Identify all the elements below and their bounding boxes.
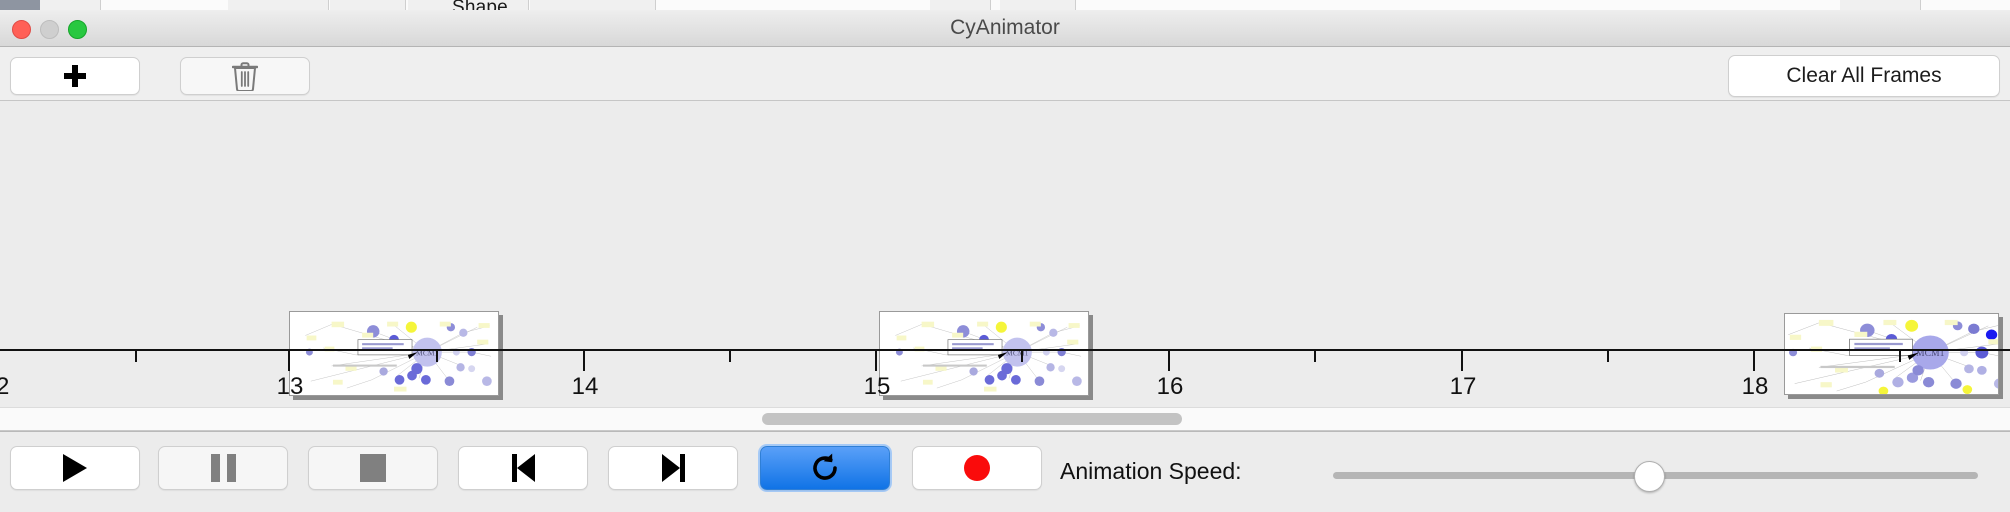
axis-tick-label: 13 [277,373,304,401]
skip-forward-icon [662,454,685,482]
window-titlebar: CyAnimator [0,10,2010,47]
plus-icon [64,65,86,87]
axis-tick-minor [135,351,137,362]
timeline-panel[interactable]: MCM1 [0,101,2010,431]
pause-icon [211,454,236,482]
frame-network-image: MCM1 [879,311,1089,396]
delete-frame-button[interactable] [180,57,310,95]
loop-button[interactable] [760,446,890,490]
skip-start-button[interactable] [458,446,588,490]
axis-tick-label: 16 [1157,373,1184,401]
skip-end-button[interactable] [608,446,738,490]
axis-tick-label: 17 [1450,373,1477,401]
network-graph: MCM1 [880,312,1088,395]
clear-all-frames-button[interactable]: Clear All Frames [1728,55,2000,97]
stop-icon [360,454,386,482]
axis-tick-major [1753,351,1755,371]
cyanimator-window: CyAnimator Clear All Frames [0,10,2010,510]
animation-speed-slider-thumb[interactable] [1634,461,1665,492]
playback-controls-bar: Animation Speed: [0,431,2010,512]
add-frame-button[interactable] [10,57,140,95]
record-icon [964,455,990,481]
axis-tick-major [583,351,585,371]
clear-all-frames-label: Clear All Frames [1786,64,1941,88]
timeline-scrollbar[interactable] [0,407,2010,431]
axis-tick-minor [1899,351,1901,362]
timeline-scrollbar-thumb[interactable] [762,413,1182,425]
record-button[interactable] [912,446,1042,490]
axis-tick-minor [1021,351,1023,362]
axis-tick-minor [436,351,438,362]
frame-toolbar: Clear All Frames [0,47,2010,101]
axis-tick-label: 18 [1742,373,1769,401]
axis-tick-major [288,351,290,371]
trash-icon [232,61,258,91]
axis-tick-label: 12 [0,373,9,401]
pause-button[interactable] [158,446,288,490]
axis-tick-minor [1607,351,1609,362]
play-icon [63,454,87,482]
axis-tick-minor [729,351,731,362]
loop-icon [808,451,842,485]
window-title: CyAnimator [0,10,2010,46]
frame-network-image: MCM1 [289,311,499,396]
play-button[interactable] [10,446,140,490]
network-graph: MCM1 [1785,314,1998,394]
timeline-axis-line [0,349,2010,351]
timeline-frame-thumbnail[interactable]: MCM1 [1784,313,1999,395]
network-graph: MCM1 [290,312,498,395]
animation-speed-label: Animation Speed: [1060,458,1242,485]
timeline-frame-thumbnail[interactable]: MCM1 [289,311,499,396]
axis-tick-major [1168,351,1170,371]
axis-tick-major [1461,351,1463,371]
timeline-frame-thumbnail[interactable]: MCM1 [879,311,1089,396]
axis-tick-major [875,351,877,371]
skip-back-icon [512,454,535,482]
axis-tick-minor [1314,351,1316,362]
stop-button[interactable] [308,446,438,490]
frame-network-image: MCM1 [1784,313,1999,395]
axis-tick-label: 15 [864,373,891,401]
axis-tick-label: 14 [572,373,599,401]
